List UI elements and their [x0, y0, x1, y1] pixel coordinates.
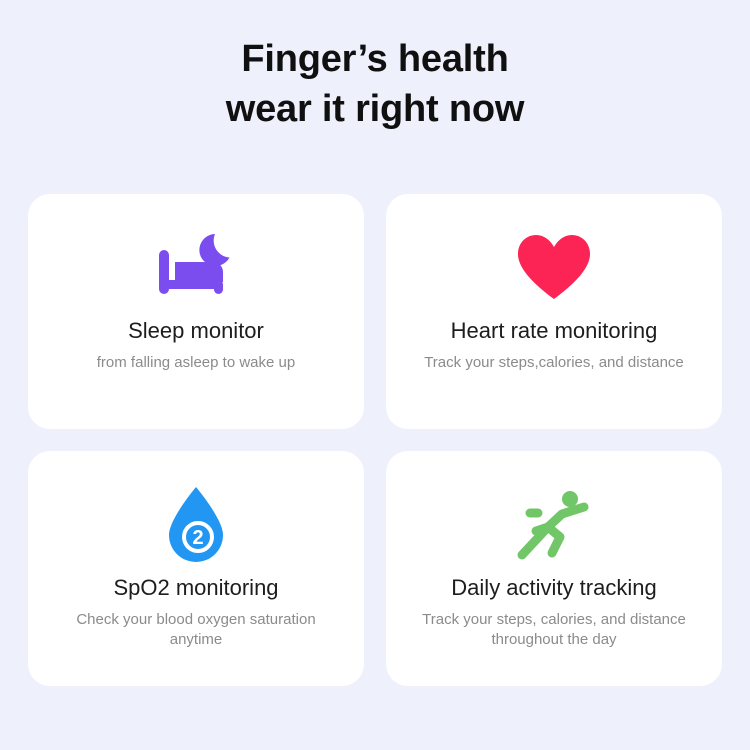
page-title-line-2: wear it right now [226, 84, 525, 134]
card-title: Heart rate monitoring [451, 318, 658, 344]
feature-card-daily-activity[interactable]: Daily activity tracking Track your steps… [386, 451, 722, 686]
feature-page: Finger’s health wear it right now Sleep … [0, 0, 750, 750]
bed-moon-icon [153, 220, 239, 316]
card-title: Daily activity tracking [451, 575, 656, 601]
card-title: SpO2 monitoring [113, 575, 278, 601]
card-description: Track your steps,calories, and distance [424, 353, 684, 373]
page-title-line-1: Finger’s health [226, 34, 525, 84]
drop-badge-number: 2 [192, 527, 203, 549]
water-drop-o2-icon: 2 [165, 477, 227, 573]
feature-card-heart-rate[interactable]: Heart rate monitoring Track your steps,c… [386, 194, 722, 429]
card-description: Track your steps, calories, and distance… [409, 610, 699, 651]
feature-card-spo2[interactable]: 2 SpO2 monitoring Check your blood oxyge… [28, 451, 364, 686]
card-description: from falling asleep to wake up [97, 353, 295, 373]
feature-card-grid: Sleep monitor from falling asleep to wak… [28, 194, 722, 686]
heart-icon [516, 220, 592, 316]
feature-card-sleep-monitor[interactable]: Sleep monitor from falling asleep to wak… [28, 194, 364, 429]
page-title: Finger’s health wear it right now [226, 34, 525, 134]
card-description: Check your blood oxygen saturation anyti… [51, 610, 341, 651]
card-title: Sleep monitor [128, 318, 264, 344]
running-person-icon [514, 477, 594, 573]
